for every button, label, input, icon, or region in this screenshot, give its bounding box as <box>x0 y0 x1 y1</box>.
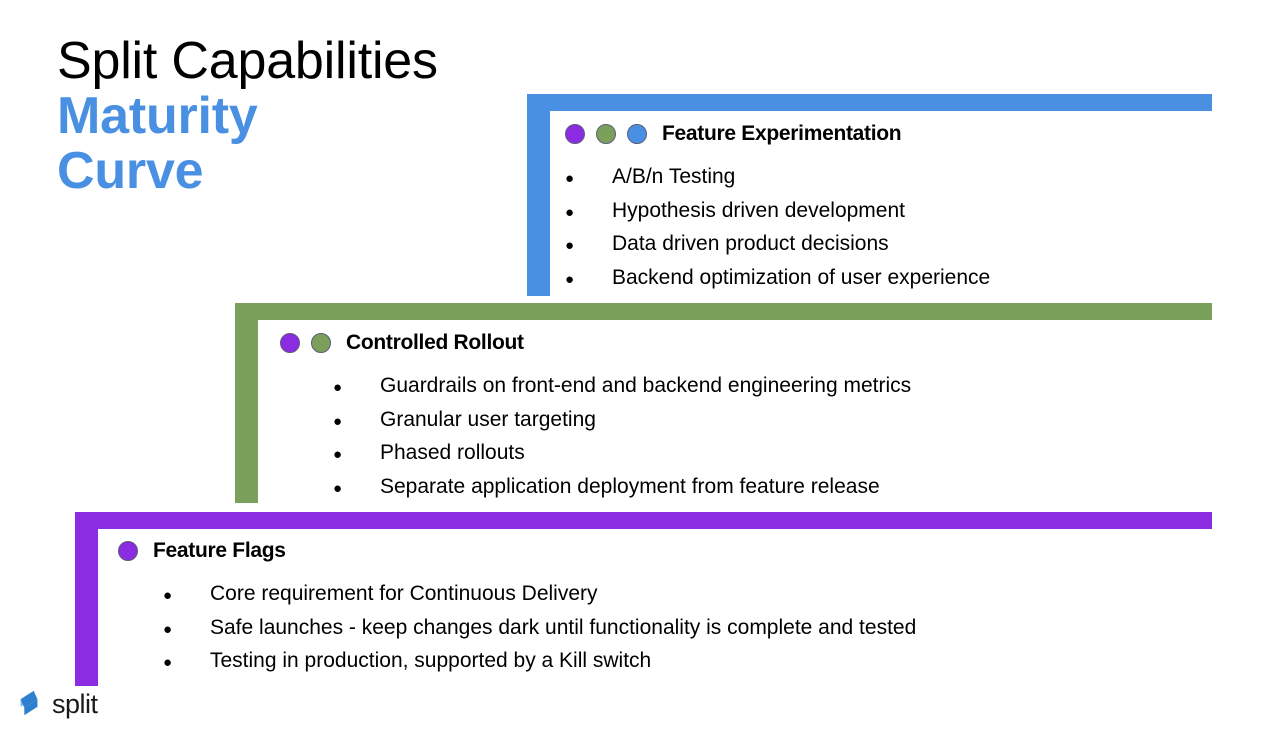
tier-dot-group <box>118 541 149 561</box>
tier-bar-stem <box>75 512 98 686</box>
bullet-text: Core requirement for Continuous Delivery <box>210 578 598 610</box>
tier-header-label: Feature Experimentation <box>662 122 901 146</box>
bullet-text: Testing in production, supported by a Ki… <box>210 645 651 677</box>
bullet-item: ●Data driven product decisions <box>565 228 990 262</box>
tier-content: Controlled Rollout ●Guardrails on front-… <box>280 330 911 504</box>
bullet-text: Hypothesis driven development <box>612 195 905 227</box>
split-logo-icon <box>14 688 44 718</box>
tier-dot-3 <box>627 124 647 144</box>
tier-bar-top <box>75 512 1212 529</box>
bullet-text: Granular user targeting <box>380 404 596 436</box>
bullet-point-icon: ● <box>333 372 380 404</box>
bullet-text: Backend optimization of user experience <box>612 262 990 294</box>
tier-bar-top <box>527 94 1212 111</box>
bullet-item: ●Testing in production, supported by a K… <box>163 645 916 679</box>
tier-controlled-rollout: Controlled Rollout ●Guardrails on front-… <box>235 303 1212 503</box>
tier-bullet-list: ●Guardrails on front-end and backend eng… <box>333 370 911 504</box>
tier-content: Feature Experimentation ●A/B/n Testing●H… <box>565 121 990 295</box>
tier-dot-group <box>280 333 342 353</box>
tier-header-label: Feature Flags <box>153 539 286 563</box>
bullet-point-icon: ● <box>163 580 210 612</box>
tier-feature-experimentation: Feature Experimentation ●A/B/n Testing●H… <box>527 94 1212 296</box>
bullet-item: ●Hypothesis driven development <box>565 195 990 229</box>
bullet-point-icon: ● <box>565 197 612 229</box>
tier-bar-stem <box>527 94 550 296</box>
bullet-text: Phased rollouts <box>380 437 525 469</box>
tier-header: Feature Experimentation <box>565 121 990 147</box>
tier-bar-top <box>235 303 1212 320</box>
bullet-point-icon: ● <box>565 264 612 296</box>
tier-dot-2 <box>596 124 616 144</box>
tier-dot-1 <box>118 541 138 561</box>
tier-content: Feature Flags ●Core requirement for Cont… <box>118 538 916 679</box>
tier-dot-group <box>565 124 658 144</box>
bullet-point-icon: ● <box>333 406 380 438</box>
bullet-text: Safe launches - keep changes dark until … <box>210 612 916 644</box>
tier-header: Controlled Rollout <box>280 330 911 356</box>
bullet-point-icon: ● <box>163 647 210 679</box>
bullet-item: ●A/B/n Testing <box>565 161 990 195</box>
bullet-point-icon: ● <box>565 163 612 195</box>
page-title: Split Capabilities Maturity Curve <box>57 34 497 199</box>
title-line-3: Curve <box>57 144 497 199</box>
bullet-text: Separate application deployment from fea… <box>380 471 880 503</box>
bullet-item: ●Separate application deployment from fe… <box>333 471 911 505</box>
bullet-text: Guardrails on front-end and backend engi… <box>380 370 911 402</box>
tier-header: Feature Flags <box>118 538 916 564</box>
bullet-item: ●Guardrails on front-end and backend eng… <box>333 370 911 404</box>
tier-dot-2 <box>311 333 331 353</box>
tier-bar-stem <box>235 303 258 503</box>
tier-dot-1 <box>280 333 300 353</box>
bullet-point-icon: ● <box>565 230 612 262</box>
title-line-2: Maturity <box>57 89 497 144</box>
slide-canvas: Split Capabilities Maturity Curve Featur… <box>0 0 1262 735</box>
tier-feature-flags: Feature Flags ●Core requirement for Cont… <box>75 512 1212 686</box>
bullet-item: ●Backend optimization of user experience <box>565 262 990 296</box>
bullet-item: ●Granular user targeting <box>333 404 911 438</box>
tier-header-label: Controlled Rollout <box>346 331 524 355</box>
tier-bullet-list: ●Core requirement for Continuous Deliver… <box>163 578 916 679</box>
bullet-point-icon: ● <box>163 614 210 646</box>
title-line-1: Split Capabilities <box>57 34 497 89</box>
tier-dot-1 <box>565 124 585 144</box>
split-logo: split <box>14 688 98 718</box>
bullet-text: Data driven product decisions <box>612 228 889 260</box>
bullet-point-icon: ● <box>333 473 380 505</box>
bullet-point-icon: ● <box>333 439 380 471</box>
tier-bullet-list: ●A/B/n Testing●Hypothesis driven develop… <box>565 161 990 295</box>
bullet-item: ●Safe launches - keep changes dark until… <box>163 612 916 646</box>
bullet-text: A/B/n Testing <box>612 161 735 193</box>
bullet-item: ●Phased rollouts <box>333 437 911 471</box>
split-logo-wordmark: split <box>52 691 98 718</box>
bullet-item: ●Core requirement for Continuous Deliver… <box>163 578 916 612</box>
